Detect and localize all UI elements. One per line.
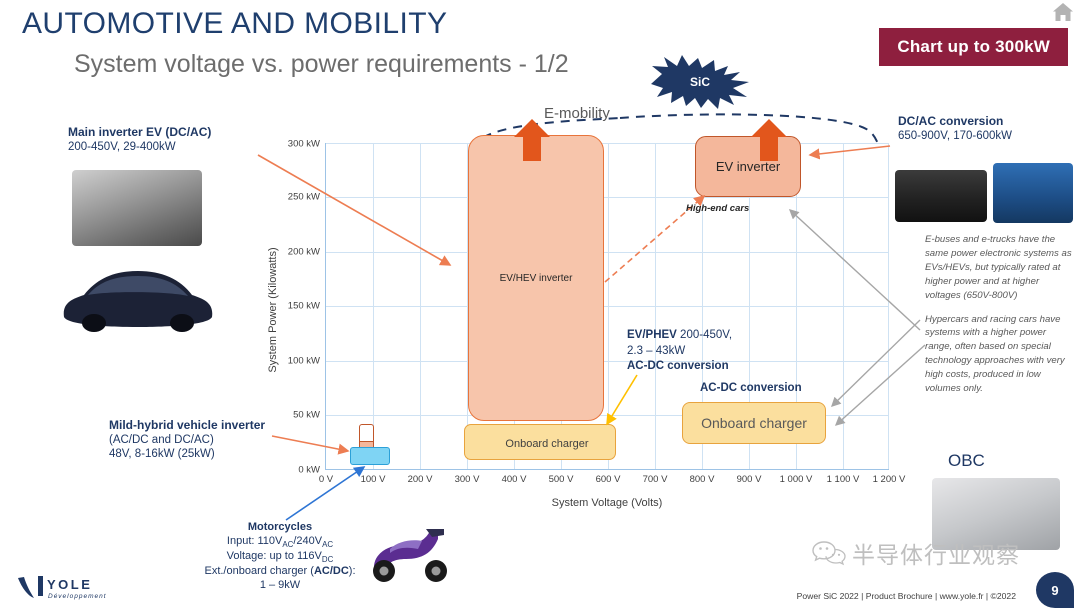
annotation-dcac-line1: DC/AC conversion — [898, 114, 1012, 129]
y-axis-tick: 250 kW — [288, 192, 320, 203]
note-ebuses: E-buses and e-trucks have the same power… — [925, 233, 1075, 303]
x-axis-tick: 1 200 V — [873, 474, 906, 485]
annotation-dcac-line2: 650-900V, 170-600kW — [898, 129, 1012, 143]
annotation-motorcycles-voltage: Voltage: up to 116VDC — [190, 550, 370, 565]
page-subtitle: System voltage vs. power requirements - … — [74, 50, 569, 79]
annotation-dcac-conversion: DC/AC conversion 650-900V, 170-600kW — [898, 114, 1012, 143]
region-ev-hev-inverter[interactable]: EV/HEV inverter — [468, 135, 604, 421]
x-axis-tick: 500 V — [549, 474, 574, 485]
y-axis-tick: 150 kW — [288, 301, 320, 312]
y-axis-tick: 200 kW — [288, 247, 320, 258]
svg-text:YOLE: YOLE — [47, 577, 92, 592]
slide: AUTOMOTIVE AND MOBILITY System voltage v… — [0, 0, 1080, 609]
y-axis-tick: 300 kW — [288, 139, 320, 150]
annotation-ev-phev-line3: AC-DC conversion — [627, 359, 732, 375]
image-scooter — [360, 515, 456, 587]
annotation-ev-phev: EV/PHEV 200-450V, 2.3 – 43kW AC-DC conve… — [627, 328, 732, 375]
label-obc: OBC — [948, 450, 985, 471]
annotation-mild-hybrid: Mild-hybrid vehicle inverter (AC/DC and … — [109, 418, 265, 462]
annotation-main-inverter-line2: 200-450V, 29-400kW — [68, 140, 211, 154]
annotation-motorcycles: Motorcycles Input: 110VAC/240VAC Voltage… — [190, 521, 370, 592]
annotation-motorcycles-power: 1 – 9kW — [190, 579, 370, 593]
home-icon[interactable] — [1052, 2, 1074, 22]
note-hypercars: Hypercars and racing cars have systems w… — [925, 313, 1075, 396]
region-label: EV/HEV inverter — [500, 273, 573, 284]
page-title: AUTOMOTIVE AND MOBILITY — [22, 7, 447, 41]
y-axis-label: System Power (Kilowatts) — [267, 247, 279, 372]
annotation-acdc-conversion: AC-DC conversion — [700, 381, 802, 395]
annotation-mild-hybrid-line3: 48V, 8-16kW (25kW) — [109, 447, 265, 461]
annotation-motorcycles-title: Motorcycles — [190, 521, 370, 535]
wechat-icon — [812, 540, 846, 566]
x-axis-tick: 300 V — [455, 474, 480, 485]
svg-text:Développement: Développement — [48, 593, 107, 600]
x-axis-tick: 1 100 V — [827, 474, 860, 485]
gridline-h — [326, 252, 889, 253]
x-axis-tick: 200 V — [408, 474, 433, 485]
image-main-inverter — [72, 170, 202, 246]
footer-text: Power SiC 2022 | Product Brochure | www.… — [797, 591, 1016, 601]
region-onboard-charger-high[interactable]: Onboard charger — [682, 402, 826, 444]
sic-badge: SiC — [646, 54, 754, 110]
annotation-motorcycles-input: Input: 110VAC/240VAC — [190, 535, 370, 550]
annotation-ev-phev-line1: EV/PHEV 200-450V, — [627, 328, 732, 344]
y-axis-tick: 0 kW — [298, 465, 320, 476]
up-arrow-icon-evhev — [513, 118, 551, 162]
region-label: Onboard charger — [505, 438, 588, 450]
e-mobility-label: E-mobility — [544, 105, 610, 124]
y-axis-tick: 50 kW — [293, 410, 320, 421]
gridline-h — [326, 361, 889, 362]
y-axis-tick: 100 kW — [288, 356, 320, 367]
up-arrow-icon-evinverter — [750, 118, 788, 162]
gridline-h — [326, 197, 889, 198]
region-label: Onboard charger — [701, 415, 807, 431]
image-electric-car — [58, 255, 218, 335]
region-onboard-charger-low[interactable]: Onboard charger — [464, 424, 616, 460]
x-axis-tick: 0 V — [319, 474, 333, 485]
gridline-h — [326, 306, 889, 307]
image-etruck — [993, 163, 1073, 223]
watermark-text: 半导体行业观察 — [852, 536, 1020, 570]
annotation-side-notes: E-buses and e-trucks have the same power… — [925, 233, 1075, 406]
x-axis-tick: 700 V — [643, 474, 668, 485]
page-number-badge: 9 — [1036, 572, 1074, 608]
region-mild-hybrid-48v[interactable] — [350, 447, 390, 465]
x-axis-tick: 600 V — [596, 474, 621, 485]
annotation-mild-hybrid-line1: Mild-hybrid vehicle inverter — [109, 418, 265, 433]
x-axis-tick: 900 V — [737, 474, 762, 485]
image-ebus — [895, 170, 987, 222]
annotation-high-end-cars: High-end cars — [686, 203, 749, 215]
x-axis-tick: 400 V — [502, 474, 527, 485]
annotation-mild-hybrid-line2: (AC/DC and DC/AC) — [109, 433, 265, 447]
yole-logo: YOLE Développement — [16, 572, 136, 604]
chart-range-badge: Chart up to 300kW — [879, 28, 1068, 66]
x-axis-tick: 1 000 V — [780, 474, 813, 485]
sic-badge-label: SiC — [646, 54, 754, 110]
x-axis-tick: 800 V — [690, 474, 715, 485]
x-axis-tick: 100 V — [361, 474, 386, 485]
annotation-motorcycles-charger: Ext./onboard charger (AC/DC): — [190, 565, 370, 579]
annotation-main-inverter-line1: Main inverter EV (DC/AC) — [68, 125, 211, 140]
x-axis-label: System Voltage (Volts) — [552, 497, 663, 509]
annotation-main-inverter: Main inverter EV (DC/AC) 200-450V, 29-40… — [68, 125, 211, 154]
annotation-ev-phev-line2: 2.3 – 43kW — [627, 344, 732, 360]
